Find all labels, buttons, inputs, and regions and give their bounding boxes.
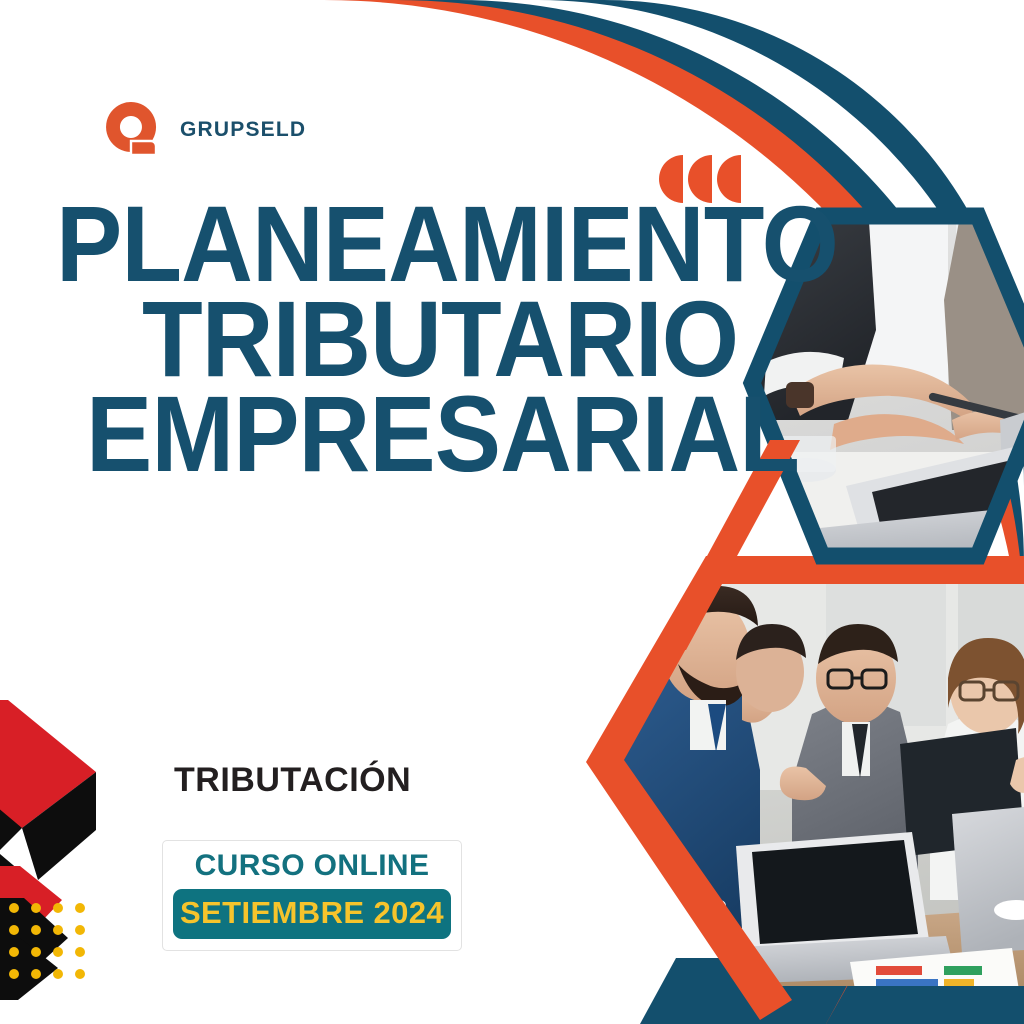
headline-line-2: TRIBUTARIO <box>142 291 707 386</box>
course-modality-label: CURSO ONLINE <box>173 850 451 882</box>
brand-lockup: GRUPSELD <box>100 99 306 161</box>
category-label: TRIBUTACIÓN <box>174 761 411 800</box>
grupseld-q-logo-icon <box>100 99 162 161</box>
poster-canvas: GRUPSELD PLANEAMIENTO TRIBUTARIO EMPRESA… <box>0 0 1024 1024</box>
angled-photo-team-discussion <box>560 540 1024 1020</box>
course-date-pill: SETIEMBRE 2024 <box>173 889 451 939</box>
page-title: PLANEAMIENTO TRIBUTARIO EMPRESARIAL <box>56 196 756 481</box>
brand-name: GRUPSELD <box>180 118 306 142</box>
headline-line-3: EMPRESARIAL <box>86 386 702 481</box>
course-badge: CURSO ONLINE SETIEMBRE 2024 <box>162 840 462 951</box>
course-date-label: SETIEMBRE 2024 <box>180 895 444 930</box>
headline-line-1: PLANEAMIENTO <box>56 196 700 291</box>
